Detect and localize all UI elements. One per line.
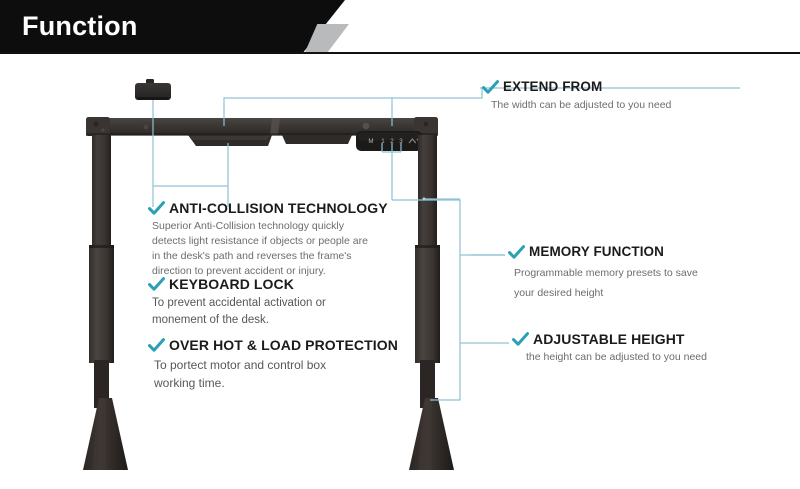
- callout-keyboard-lock-body-line2: monement of the desk.: [152, 312, 326, 329]
- callout-adjustable-height-head: ADJUSTABLE HEIGHT: [512, 331, 707, 347]
- connector-keypad-to-memory: [392, 200, 505, 255]
- check-icon: [482, 80, 499, 95]
- callout-anti-collision-body: Superior Anti-Collision technology quick…: [152, 219, 388, 279]
- callout-adjustable-height-body: the height can be adjusted to you need: [526, 350, 707, 365]
- callout-over-hot-load-protection-body-line1: To portect motor and control box: [154, 356, 398, 374]
- svg-text:1: 1: [381, 138, 385, 145]
- callout-extend-from-title: EXTEND FROM: [503, 79, 602, 95]
- control-box: [135, 79, 171, 100]
- callout-keyboard-lock-body-line1: To prevent accidental activation or: [152, 295, 326, 312]
- callout-anti-collision-body-line2: detects light resistance if objects or p…: [152, 234, 388, 249]
- callout-memory-function-head: MEMORY FUNCTION: [508, 244, 698, 260]
- callout-adjustable-height: ADJUSTABLE HEIGHT the height can be adju…: [512, 331, 707, 365]
- callout-over-hot-load-protection-body: To portect motor and control box working…: [154, 356, 398, 392]
- left-foot: [83, 398, 128, 470]
- callout-extend-from-body: The width can be adjusted to you need: [491, 98, 671, 113]
- under-beam-rail: [188, 135, 272, 146]
- callout-over-hot-load-protection: OVER HOT & LOAD PROTECTION To portect mo…: [148, 337, 398, 392]
- check-icon: [148, 201, 165, 216]
- callout-over-hot-load-protection-body-line2: working time.: [154, 374, 398, 392]
- infographic-page: Function: [0, 0, 800, 489]
- connector-adjustable: [460, 255, 509, 343]
- callout-anti-collision-body-line3: in the desk's path and reverses the fram…: [152, 249, 388, 264]
- callout-adjustable-height-title: ADJUSTABLE HEIGHT: [533, 331, 685, 347]
- callout-memory-function-title: MEMORY FUNCTION: [529, 244, 664, 260]
- callout-memory-function: MEMORY FUNCTION Programmable memory pres…: [508, 244, 698, 303]
- callout-over-hot-load-protection-title: OVER HOT & LOAD PROTECTION: [169, 337, 398, 353]
- callout-keyboard-lock-head: KEYBOARD LOCK: [148, 276, 326, 292]
- connector-extend-left: [224, 98, 392, 126]
- check-icon: [508, 245, 525, 260]
- keypad[interactable]: M 1 2 3: [356, 131, 424, 151]
- callout-memory-function-body-line2: your desired height: [514, 283, 698, 303]
- callout-keyboard-lock: KEYBOARD LOCK To prevent accidental acti…: [148, 276, 326, 329]
- callout-anti-collision-body-line1: Superior Anti-Collision technology quick…: [152, 219, 388, 234]
- callout-extend-from-head: EXTEND FROM: [482, 79, 671, 95]
- callout-anti-collision: ANTI-COLLISION TECHNOLOGY Superior Anti-…: [148, 200, 388, 279]
- under-beam-rail-right: [282, 135, 352, 144]
- callout-memory-function-body-line1: Programmable memory presets to save: [514, 263, 698, 283]
- svg-text:2: 2: [390, 138, 394, 145]
- callout-anti-collision-head: ANTI-COLLISION TECHNOLOGY: [148, 200, 388, 216]
- callout-extend-from: EXTEND FROM The width can be adjusted to…: [482, 79, 671, 113]
- header-divider: [0, 52, 800, 54]
- callout-anti-collision-title: ANTI-COLLISION TECHNOLOGY: [169, 200, 388, 216]
- connector-adjustable-leg: [430, 343, 460, 400]
- right-foot: [409, 398, 454, 470]
- callout-memory-function-body: Programmable memory presets to save your…: [514, 263, 698, 303]
- right-lifting-column: [415, 135, 440, 408]
- check-icon: [512, 332, 529, 347]
- callout-keyboard-lock-body: To prevent accidental activation or mone…: [152, 295, 326, 329]
- check-icon: [148, 277, 165, 292]
- callout-over-hot-load-protection-head: OVER HOT & LOAD PROTECTION: [148, 337, 398, 353]
- page-title: Function: [22, 9, 138, 43]
- callout-keyboard-lock-title: KEYBOARD LOCK: [169, 276, 294, 292]
- left-lifting-column: [89, 135, 114, 408]
- check-icon: [148, 338, 165, 353]
- svg-text:3: 3: [399, 138, 403, 145]
- svg-text:M: M: [368, 138, 373, 145]
- telescopic-crossbeam: [86, 117, 438, 136]
